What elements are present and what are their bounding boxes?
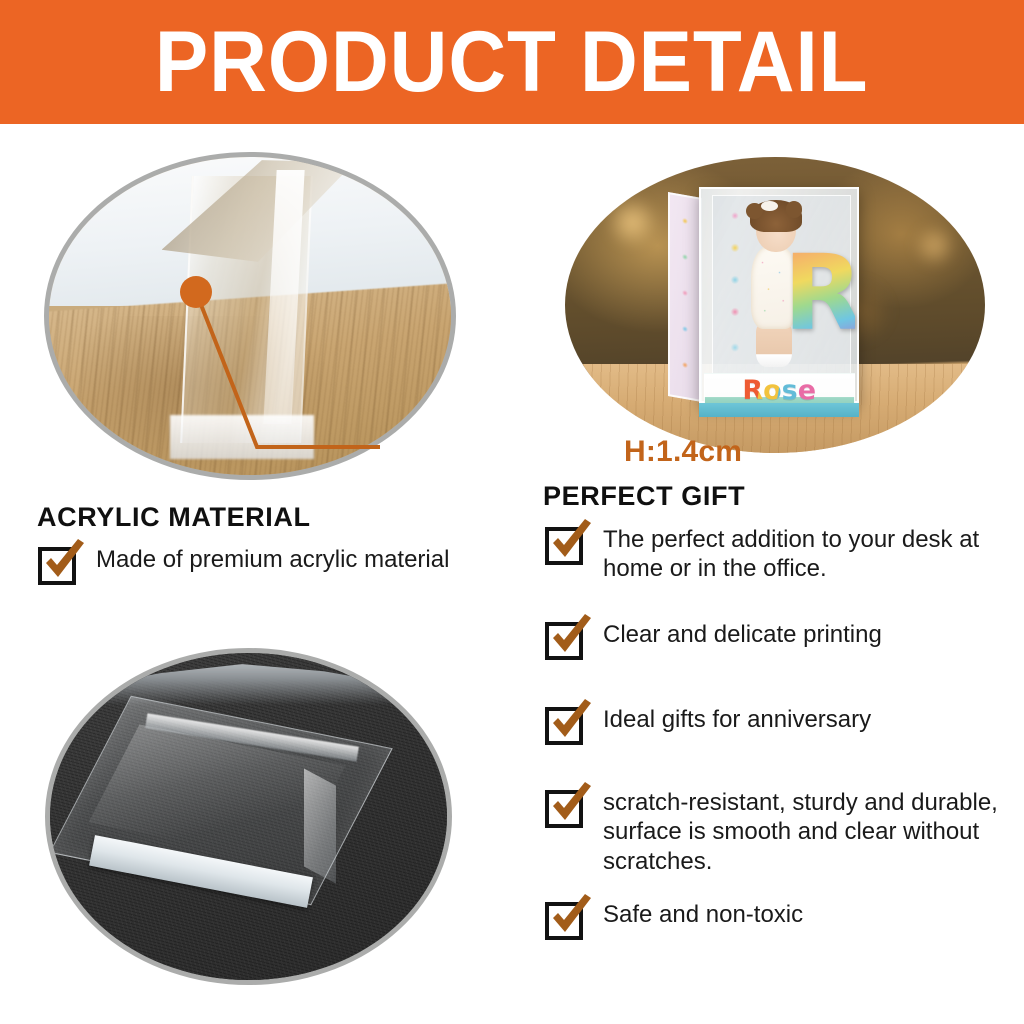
check-mark-icon xyxy=(545,517,595,567)
gift-box-side-stickers xyxy=(670,195,700,400)
list-item: Clear and delicate printing xyxy=(545,620,882,660)
check-mark-icon xyxy=(38,537,88,587)
check-mark-icon xyxy=(545,697,595,747)
acrylic-slab-right-edge xyxy=(304,769,336,884)
gift-box-bottom-band xyxy=(699,403,859,418)
list-item: Safe and non-toxic xyxy=(545,900,803,940)
list-item-label: Made of premium acrylic material xyxy=(96,545,449,574)
checkbox-checked-icon xyxy=(545,622,583,660)
checkbox-checked-icon xyxy=(38,547,76,585)
list-item-label: The perfect addition to your desk at hom… xyxy=(603,525,1024,584)
list-item: Made of premium acrylic material xyxy=(38,545,449,585)
rainbow-letter: R xyxy=(792,228,855,358)
checkbox-checked-icon xyxy=(545,790,583,828)
list-item: scratch-resistant, sturdy and durable, s… xyxy=(545,788,1024,876)
acrylic-slab-photo xyxy=(45,648,452,985)
checkbox-checked-icon xyxy=(545,902,583,940)
check-mark-icon xyxy=(545,612,595,662)
section-title-acrylic-material: ACRYLIC MATERIAL xyxy=(37,502,311,533)
list-item: Ideal gifts for anniversary xyxy=(545,705,871,745)
check-mark-icon xyxy=(545,892,595,942)
callout-label: H:1.4cm xyxy=(624,437,742,467)
acrylic-block-base xyxy=(170,415,315,460)
gift-box-product-photo: R Rose xyxy=(565,157,985,453)
list-item-label: Clear and delicate printing xyxy=(603,620,882,649)
acrylic-block-edge-photo xyxy=(44,152,456,480)
gift-box-side-panel xyxy=(668,193,702,403)
header-banner: PRODUCT DETAIL xyxy=(0,0,1024,124)
gift-box-name-label: Rose xyxy=(742,377,816,404)
product-detail-infographic: PRODUCT DETAIL R Rose xyxy=(0,0,1024,1024)
list-item-label: Safe and non-toxic xyxy=(603,900,803,929)
list-item-label: Ideal gifts for anniversary xyxy=(603,705,871,734)
doll-hair-bun-right xyxy=(786,201,803,217)
section-title-perfect-gift: PERFECT GIFT xyxy=(543,481,745,512)
page-title: PRODUCT DETAIL xyxy=(155,19,869,105)
checkbox-checked-icon xyxy=(545,707,583,745)
list-item: The perfect addition to your desk at hom… xyxy=(545,525,1024,584)
check-mark-icon xyxy=(545,780,595,830)
checkbox-checked-icon xyxy=(545,527,583,565)
list-item-label: scratch-resistant, sturdy and durable, s… xyxy=(603,788,1024,876)
